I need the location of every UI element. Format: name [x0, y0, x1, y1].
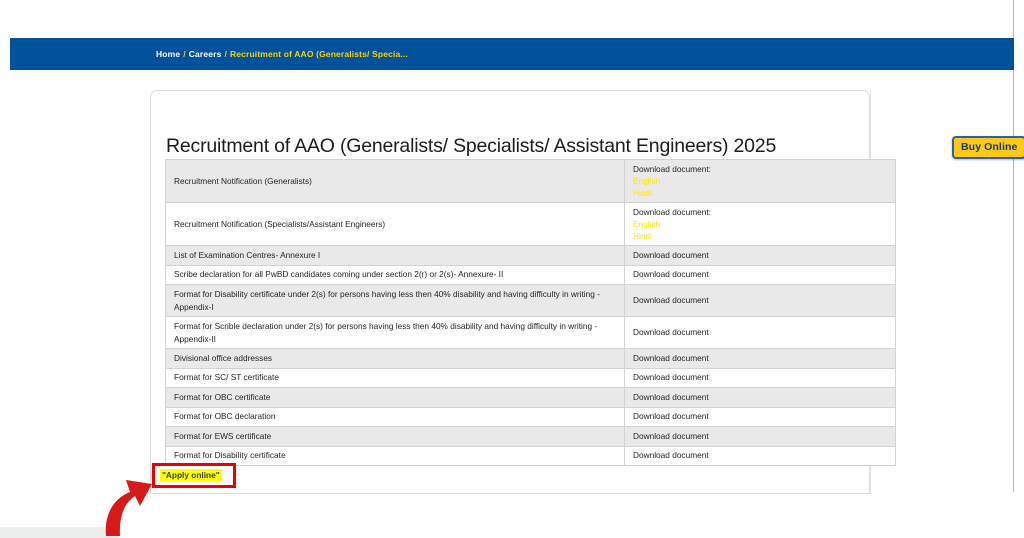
- download-document-link[interactable]: Download document: [633, 372, 709, 382]
- document-action-cell: Download document: English Hindi: [625, 160, 896, 203]
- documents-table-body: Recruitment Notification (Generalists) D…: [166, 160, 896, 466]
- table-row: Format for EWS certificate Download docu…: [166, 427, 896, 447]
- document-label: Scribe declaration for all PwBD candidat…: [174, 268, 616, 281]
- breadcrumb-bar: Home / Careers / Recruitment of AAO (Gen…: [10, 38, 1014, 70]
- document-label: Format for OBC certificate: [174, 391, 616, 404]
- download-document-heading: Download document:: [633, 163, 887, 176]
- breadcrumb-item-careers[interactable]: Careers: [189, 49, 222, 59]
- document-action-cell: Download document: [625, 246, 896, 266]
- document-action-cell: Download document: [625, 317, 896, 349]
- document-action-cell: Download document: [625, 368, 896, 388]
- table-row: Format for Scrible declaration under 2(s…: [166, 317, 896, 349]
- document-label-cell: Format for OBC declaration: [166, 407, 625, 427]
- download-document-link[interactable]: Download document: [633, 392, 709, 402]
- document-label-cell: Recruitment Notification (Generalists): [166, 160, 625, 203]
- document-label: Format for SC/ ST certificate: [174, 371, 616, 384]
- download-document-link[interactable]: Download document: [633, 431, 709, 441]
- document-action-cell: Download document: [625, 388, 896, 408]
- table-row: Recruitment Notification (Generalists) D…: [166, 160, 896, 203]
- document-action-cell: Download document: [625, 427, 896, 447]
- buy-online-button[interactable]: Buy Online: [952, 136, 1024, 159]
- table-row: Format for SC/ ST certificate Download d…: [166, 368, 896, 388]
- breadcrumb-item-current: Recruitment of AAO (Generalists/ Specia.…: [230, 49, 408, 59]
- document-label-cell: Divisional office addresses: [166, 349, 625, 369]
- document-action-cell: Download document: [625, 446, 896, 466]
- download-link-hindi[interactable]: Hindi: [633, 187, 887, 199]
- document-label: Format for Disability certificate under …: [174, 288, 616, 314]
- document-label: Format for EWS certificate: [174, 430, 616, 443]
- table-row: Format for Disability certificate Downlo…: [166, 446, 896, 466]
- content-card: Recruitment of AAO (Generalists/ Special…: [150, 90, 870, 494]
- document-label: Divisional office addresses: [174, 352, 616, 365]
- download-link-english[interactable]: English: [633, 218, 887, 230]
- table-row: Recruitment Notification (Specialists/As…: [166, 203, 896, 246]
- table-row: Format for OBC certificate Download docu…: [166, 388, 896, 408]
- document-label-cell: Format for EWS certificate: [166, 427, 625, 447]
- document-action-cell: Download document: English Hindi: [625, 203, 896, 246]
- document-label-cell: List of Examination Centres- Annexure I: [166, 246, 625, 266]
- breadcrumb-separator: /: [224, 49, 227, 59]
- page-title: Recruitment of AAO (Generalists/ Special…: [166, 135, 776, 158]
- breadcrumb-item-home[interactable]: Home: [156, 49, 180, 59]
- document-label-cell: Format for SC/ ST certificate: [166, 368, 625, 388]
- document-label-cell: Recruitment Notification (Specialists/As…: [166, 203, 625, 246]
- download-document-link[interactable]: Download document: [633, 250, 709, 260]
- download-document-link[interactable]: Download document: [633, 353, 709, 363]
- apply-online-link[interactable]: "Apply online": [160, 469, 222, 481]
- page-right-divider: [1013, 0, 1014, 492]
- table-row: Format for Disability certificate under …: [166, 285, 896, 317]
- document-label: List of Examination Centres- Annexure I: [174, 249, 616, 262]
- document-action-cell: Download document: [625, 285, 896, 317]
- download-document-link[interactable]: Download document: [633, 411, 709, 421]
- page-root: Home / Careers / Recruitment of AAO (Gen…: [0, 0, 1024, 538]
- table-row: Scribe declaration for all PwBD candidat…: [166, 265, 896, 285]
- table-row: Divisional office addresses Download doc…: [166, 349, 896, 369]
- download-link-hindi[interactable]: Hindi: [633, 230, 887, 242]
- download-document-heading: Download document:: [633, 206, 887, 219]
- document-label-cell: Format for Disability certificate under …: [166, 285, 625, 317]
- download-link-english[interactable]: English: [633, 175, 887, 187]
- download-document-link[interactable]: Download document: [633, 295, 709, 305]
- download-document-link[interactable]: Download document: [633, 450, 709, 460]
- document-action-cell: Download document: [625, 407, 896, 427]
- table-row: Format for OBC declaration Download docu…: [166, 407, 896, 427]
- document-label-cell: Format for Scrible declaration under 2(s…: [166, 317, 625, 349]
- download-document-link[interactable]: Download document: [633, 269, 709, 279]
- document-label: Format for Disability certificate: [174, 449, 616, 462]
- download-document-link[interactable]: Download document: [633, 327, 709, 337]
- documents-table: Recruitment Notification (Generalists) D…: [165, 159, 896, 466]
- document-label: Recruitment Notification (Specialists/As…: [174, 218, 616, 231]
- table-row: List of Examination Centres- Annexure I …: [166, 246, 896, 266]
- document-label: Format for Scrible declaration under 2(s…: [174, 320, 616, 346]
- document-label-cell: Scribe declaration for all PwBD candidat…: [166, 265, 625, 285]
- document-label: Recruitment Notification (Generalists): [174, 175, 616, 188]
- breadcrumb-separator: /: [183, 49, 186, 59]
- document-action-cell: Download document: [625, 265, 896, 285]
- document-action-cell: Download document: [625, 349, 896, 369]
- breadcrumb: Home / Careers / Recruitment of AAO (Gen…: [156, 49, 408, 59]
- document-label-cell: Format for OBC certificate: [166, 388, 625, 408]
- document-label: Format for OBC declaration: [174, 410, 616, 423]
